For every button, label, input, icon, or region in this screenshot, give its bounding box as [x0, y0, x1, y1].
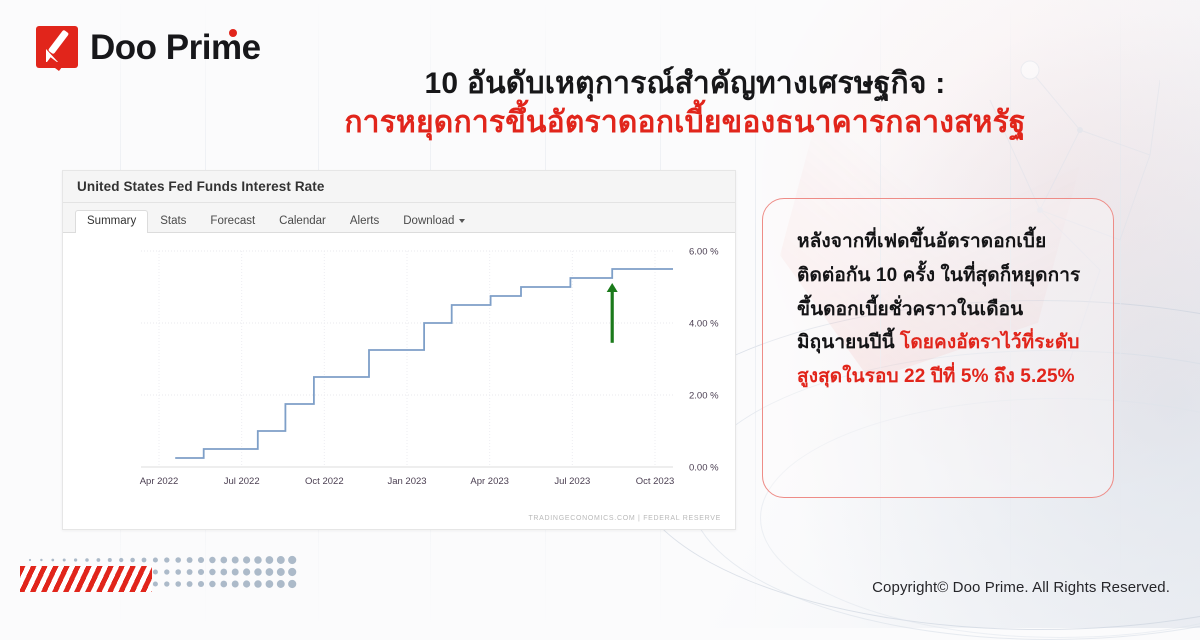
- chevron-down-icon: [459, 219, 465, 223]
- final-hike-arrow-icon: [607, 283, 618, 343]
- title-sub: การหยุดการขึ้นอัตราดอกเบี้ยของธนาคารกลาง…: [170, 105, 1200, 142]
- chart-panel-header: United States Fed Funds Interest Rate: [63, 171, 735, 203]
- tab-alerts-label: Alerts: [350, 216, 379, 228]
- tab-forecast-label: Forecast: [210, 216, 255, 228]
- chart-credit: TRADINGECONOMICS.COM | FEDERAL RESERVE: [528, 515, 721, 522]
- fed-funds-rate-chart: 0.00 %2.00 %4.00 %6.00 % Apr 2022Jul 202…: [63, 233, 737, 529]
- svg-text:Apr 2022: Apr 2022: [140, 476, 179, 487]
- tab-stats-label: Stats: [160, 216, 186, 228]
- chart-area[interactable]: 0.00 %2.00 %4.00 %6.00 % Apr 2022Jul 202…: [63, 233, 735, 529]
- brand-name: Doo Prime: [90, 30, 261, 65]
- tab-calendar[interactable]: Calendar: [267, 210, 338, 234]
- svg-text:Jan 2023: Jan 2023: [387, 476, 426, 487]
- copyright-text: Copyright© Doo Prime. All Rights Reserve…: [872, 579, 1170, 596]
- chart-x-axis-labels: Apr 2022Jul 2022Oct 2022Jan 2023Apr 2023…: [140, 476, 675, 487]
- svg-text:4.00 %: 4.00 %: [689, 319, 719, 330]
- stripe-decoration: [20, 566, 152, 592]
- tab-download-label: Download: [403, 216, 454, 228]
- chart-title: United States Fed Funds Interest Rate: [77, 179, 325, 194]
- svg-text:Jul 2022: Jul 2022: [224, 476, 260, 487]
- chart-tabbar: Summary Stats Forecast Calendar Alerts D…: [63, 203, 735, 233]
- tab-calendar-label: Calendar: [279, 216, 326, 228]
- tab-stats[interactable]: Stats: [148, 210, 198, 234]
- svg-text:6.00 %: 6.00 %: [689, 247, 719, 258]
- brand-logo: Doo Prime: [36, 26, 261, 68]
- svg-text:Oct 2023: Oct 2023: [636, 476, 675, 487]
- logo-dot-icon: [229, 29, 237, 37]
- page-title: 10 อันดับเหตุการณ์สำคัญทางเศรษฐกิจ : การ…: [0, 66, 1200, 141]
- tab-download[interactable]: Download: [391, 210, 477, 234]
- title-main: 10 อันดับเหตุการณ์สำคัญทางเศรษฐกิจ :: [170, 66, 1200, 103]
- svg-text:0.00 %: 0.00 %: [689, 463, 719, 474]
- tab-summary-label: Summary: [87, 216, 136, 228]
- svg-text:2.00 %: 2.00 %: [689, 391, 719, 402]
- chart-panel: United States Fed Funds Interest Rate Su…: [62, 170, 736, 530]
- svg-text:Oct 2022: Oct 2022: [305, 476, 344, 487]
- callout-text: หลังจากที่เฟดขึ้นอัตราดอกเบี้ยติดต่อกัน …: [797, 225, 1085, 394]
- chart-y-axis-labels: 0.00 %2.00 %4.00 %6.00 %: [689, 247, 719, 474]
- tab-forecast[interactable]: Forecast: [198, 210, 267, 234]
- doo-prime-logo-icon: [36, 26, 78, 68]
- svg-text:Apr 2023: Apr 2023: [470, 476, 509, 487]
- chart-gridlines: [141, 251, 673, 467]
- tab-alerts[interactable]: Alerts: [338, 210, 391, 234]
- svg-text:Jul 2023: Jul 2023: [554, 476, 590, 487]
- callout-box: หลังจากที่เฟดขึ้นอัตราดอกเบี้ยติดต่อกัน …: [762, 198, 1114, 498]
- rate-step-line: [175, 269, 673, 458]
- tab-summary[interactable]: Summary: [75, 210, 148, 234]
